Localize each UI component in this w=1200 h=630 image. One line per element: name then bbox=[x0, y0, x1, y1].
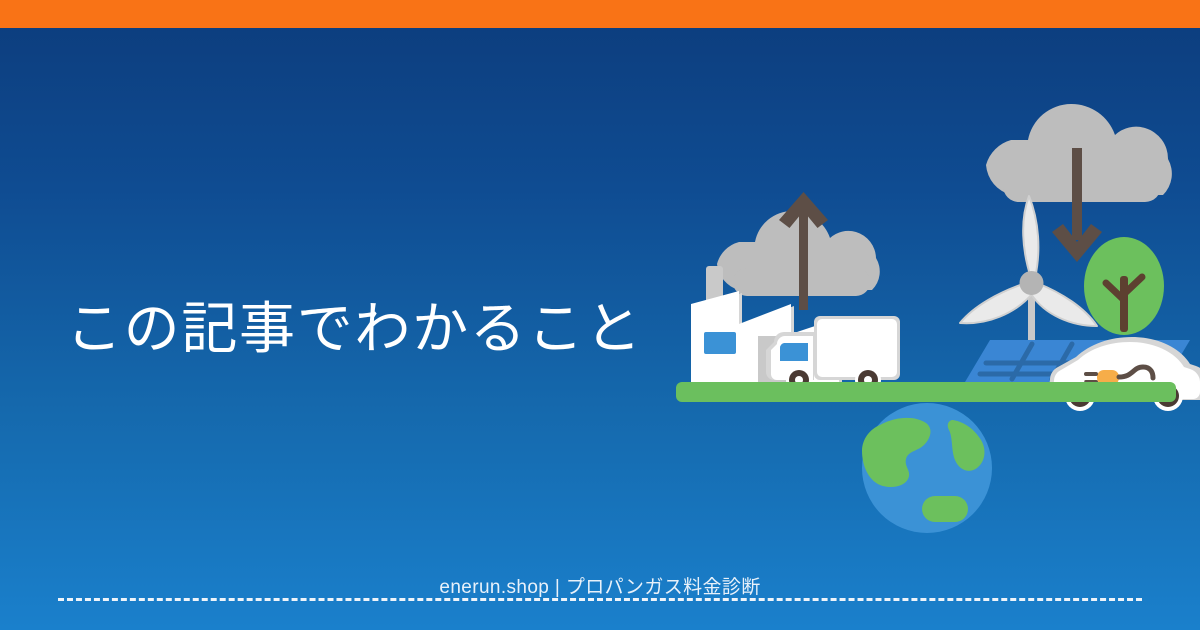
cloud-emitting-up-icon bbox=[717, 211, 880, 296]
page-title: この記事でわかること bbox=[66, 296, 626, 362]
footer-divider bbox=[58, 598, 1142, 601]
ground-bar bbox=[676, 382, 1176, 402]
footer-branding: enerun.shop | プロパンガス料金診断 bbox=[0, 572, 1200, 599]
globe-icon bbox=[862, 403, 992, 533]
tree-icon bbox=[1084, 237, 1164, 335]
top-accent-bar bbox=[0, 0, 1200, 28]
slide-canvas: この記事でわかること bbox=[0, 0, 1200, 630]
hero-illustration bbox=[660, 80, 1200, 550]
